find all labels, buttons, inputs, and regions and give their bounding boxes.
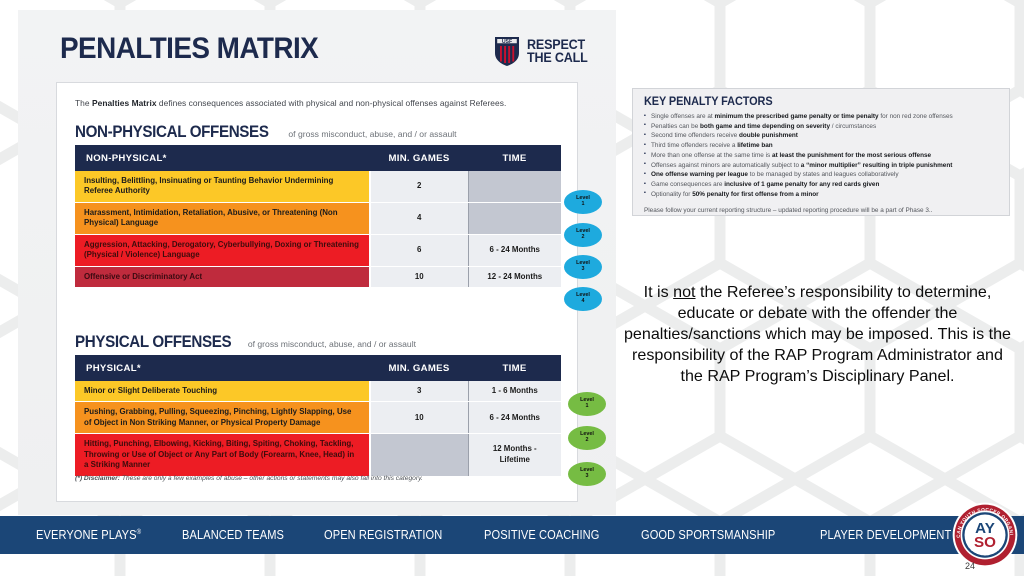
offense-cell: Hitting, Punching, Elbowing, Kicking, Bi… <box>75 434 370 476</box>
svg-text:SO: SO <box>974 534 996 551</box>
registered-mark: ® <box>137 529 142 536</box>
offense-cell: Pushing, Grabbing, Pulling, Squeezing, P… <box>75 402 370 434</box>
badge-level: 1 <box>582 202 585 208</box>
bullet-bold: lifetime ban <box>737 142 773 149</box>
us-soccer-crest-icon: USF <box>494 36 520 67</box>
bullet-pre: Optionality for <box>651 191 692 198</box>
kpf-bullet: Single offenses are at minimum the presc… <box>644 112 999 122</box>
bullet-bold: a “minor multiplier” resulting in triple… <box>801 162 953 169</box>
intro-bold: Penalties Matrix <box>92 98 157 108</box>
kpf-bullet: More than one offense at the same time i… <box>644 151 999 161</box>
bullet-post: for non red zone offenses <box>879 113 953 120</box>
badge-level: 3 <box>582 267 585 273</box>
table-row: Pushing, Grabbing, Pulling, Squeezing, P… <box>75 402 561 434</box>
responsibility-blurb: It is not the Referee’s responsibility t… <box>620 282 1015 387</box>
kpf-bullet: One offense warning per league to be man… <box>644 170 999 180</box>
column-header-offense: PHYSICAL* <box>75 355 370 381</box>
section-title: PHYSICAL OFFENSES <box>75 333 231 352</box>
non-physical-offenses-table: NON-PHYSICAL* MIN. GAMES TIME Insulting,… <box>75 145 561 288</box>
kpf-title: KEY PENALTY FACTORS <box>644 96 981 108</box>
matrix-card: The Penalties Matrix defines consequence… <box>56 82 578 502</box>
badge-level: 3 <box>586 474 589 480</box>
section-subtitle: of gross misconduct, abuse, and / or ass… <box>248 339 416 349</box>
offense-cell: Insulting, Belittling, Insinuating or Ta… <box>75 171 370 202</box>
column-header-min-games: MIN. GAMES <box>370 145 468 171</box>
level-badge-physical-3: Level 3 <box>568 462 606 486</box>
footer-item-player-development: PLAYER DEVELOPMENT <box>820 528 951 542</box>
badge-level: 2 <box>586 438 589 444</box>
time-cell: 1 - 6 Months <box>468 381 561 402</box>
offense-cell: Offensive or Discriminatory Act <box>75 266 370 287</box>
table-row: Insulting, Belittling, Insinuating or Ta… <box>75 171 561 202</box>
min-games-cell: 6 <box>370 234 468 266</box>
column-header-offense: NON-PHYSICAL* <box>75 145 370 171</box>
svg-text:USF: USF <box>502 39 512 45</box>
section-heading-non-physical: NON-PHYSICAL OFFENSESof gross misconduct… <box>75 123 457 142</box>
table-row: Offensive or Discriminatory Act 10 12 - … <box>75 266 561 287</box>
footer-bar: EVERYONE PLAYS® BALANCED TEAMS OPEN REGI… <box>0 516 1024 554</box>
footer-item-label: EVERYONE PLAYS <box>36 528 137 542</box>
intro-pre: The <box>75 98 92 108</box>
bullet-pre: Offenses against minors are automaticall… <box>651 162 801 169</box>
bullet-pre: Single offenses are at <box>651 113 714 120</box>
bullet-bold: 50% penalty for first offense from a min… <box>692 191 818 198</box>
intro-text: The Penalties Matrix defines consequence… <box>75 98 563 108</box>
bullet-bold: both game and time depending on severity <box>700 123 830 130</box>
level-badge-physical-1: Level 1 <box>568 392 606 416</box>
bullet-pre: Second time offenders receive <box>651 132 739 139</box>
section-title: NON-PHYSICAL OFFENSES <box>75 123 269 142</box>
kpf-bullet: Second time offenders receive double pun… <box>644 131 999 141</box>
footer-item-balanced-teams: BALANCED TEAMS <box>182 528 284 542</box>
level-badge-non-physical-2: Level 2 <box>564 223 602 247</box>
blurb-underlined: not <box>673 283 695 301</box>
time-cell: 6 - 24 Months <box>468 402 561 434</box>
page-title: PENALTIES MATRIX <box>60 32 318 66</box>
footer-item-everyone-plays: EVERYONE PLAYS® <box>36 528 141 542</box>
bullet-bold: inclusive of 1 game penalty for any red … <box>724 181 879 188</box>
disclaimer-body: These are only a few examples of abuse –… <box>120 475 423 482</box>
footer-item-positive-coaching: POSITIVE COACHING <box>484 528 599 542</box>
kpf-bullet: Third time offenders receive a lifetime … <box>644 141 999 151</box>
min-games-cell: 10 <box>370 402 468 434</box>
footer-taglines: EVERYONE PLAYS® BALANCED TEAMS OPEN REGI… <box>0 528 969 542</box>
level-badge-non-physical-4: Level 4 <box>564 287 602 311</box>
slide-canvas: PENALTIES MATRIX USF RESPECT THE CALL <box>0 0 1024 576</box>
penalties-matrix-graphic: PENALTIES MATRIX USF RESPECT THE CALL <box>18 10 616 515</box>
badge-level: 2 <box>582 235 585 241</box>
min-games-cell <box>370 434 468 476</box>
table-row: Harassment, Intimidation, Retaliation, A… <box>75 202 561 234</box>
badge-level: 4 <box>582 299 585 305</box>
intro-post: defines consequences associated with phy… <box>157 98 507 108</box>
table-header-row: PHYSICAL* MIN. GAMES TIME <box>75 355 561 381</box>
footer-item-open-registration: OPEN REGISTRATION <box>324 528 442 542</box>
kpf-bullet: Offenses against minors are automaticall… <box>644 161 999 171</box>
level-badge-physical-2: Level 2 <box>568 426 606 450</box>
ayso-logo: AMERICAN YOUTH SOCCER ORGANIZATION FOUND… <box>952 502 1018 568</box>
min-games-cell: 2 <box>370 171 468 202</box>
kpf-bullet: Penalties can be both game and time depe… <box>644 122 999 132</box>
table-row: Aggression, Attacking, Derogatory, Cyber… <box>75 234 561 266</box>
offense-cell: Aggression, Attacking, Derogatory, Cyber… <box>75 234 370 266</box>
kpf-note: Please follow your current reporting str… <box>644 207 999 214</box>
column-header-min-games: MIN. GAMES <box>370 355 468 381</box>
bullet-post: / circumstances <box>830 123 876 130</box>
table-row: Minor or Slight Deliberate Touching 3 1 … <box>75 381 561 402</box>
bullet-pre: Game consequences are <box>651 181 724 188</box>
lockup-line-2: THE CALL <box>527 52 588 65</box>
level-badge-non-physical-3: Level 3 <box>564 255 602 279</box>
kpf-bullet: Game consequences are inclusive of 1 gam… <box>644 180 999 190</box>
bullet-pre: Penalties can be <box>651 123 700 130</box>
respect-the-call-lockup: USF RESPECT THE CALL <box>494 36 592 67</box>
bullet-pre: Third time offenders receive a <box>651 142 737 149</box>
physical-offenses-table: PHYSICAL* MIN. GAMES TIME Minor or Sligh… <box>75 355 561 477</box>
section-heading-physical: PHYSICAL OFFENSESof gross misconduct, ab… <box>75 333 416 352</box>
bullet-pre: More than one offense at the same time i… <box>651 152 772 159</box>
footer-item-good-sportsmanship: GOOD SPORTSMANSHIP <box>641 528 775 542</box>
bullet-bold: at least the punishment for the most ser… <box>772 152 931 159</box>
disclaimer-text: (*) Disclaimer: These are only a few exa… <box>75 475 423 482</box>
table-header-row: NON-PHYSICAL* MIN. GAMES TIME <box>75 145 561 171</box>
level-badge-non-physical-1: Level 1 <box>564 190 602 214</box>
section-subtitle: of gross misconduct, abuse, and / or ass… <box>288 129 456 139</box>
kpf-bullet: Optionality for 50% penalty for first of… <box>644 190 999 200</box>
min-games-cell: 10 <box>370 266 468 287</box>
bullet-bold: minimum the prescribed game penalty or t… <box>714 113 878 120</box>
offense-cell: Minor or Slight Deliberate Touching <box>75 381 370 402</box>
page-number: 24 <box>965 561 975 571</box>
offense-cell: Harassment, Intimidation, Retaliation, A… <box>75 202 370 234</box>
bullet-bold: double punishment <box>739 132 798 139</box>
min-games-cell: 4 <box>370 202 468 234</box>
time-cell: 12 - 24 Months <box>468 266 561 287</box>
badge-level: 1 <box>586 404 589 410</box>
disclaimer-label: (*) Disclaimer: <box>75 475 120 482</box>
bullet-post: to be managed by states and leagues coll… <box>748 171 899 178</box>
column-header-time: TIME <box>468 355 561 381</box>
kpf-bullet-list: Single offenses are at minimum the presc… <box>644 112 999 200</box>
column-header-time: TIME <box>468 145 561 171</box>
time-cell: 12 Months - Lifetime <box>468 434 561 476</box>
time-cell <box>468 202 561 234</box>
bullet-bold: One offense warning per league <box>651 171 748 178</box>
min-games-cell: 3 <box>370 381 468 402</box>
blurb-part-1: It is <box>644 283 674 301</box>
time-cell: 6 - 24 Months <box>468 234 561 266</box>
time-cell <box>468 171 561 202</box>
table-row: Hitting, Punching, Elbowing, Kicking, Bi… <box>75 434 561 476</box>
key-penalty-factors-box: KEY PENALTY FACTORS Single offenses are … <box>632 88 1010 216</box>
